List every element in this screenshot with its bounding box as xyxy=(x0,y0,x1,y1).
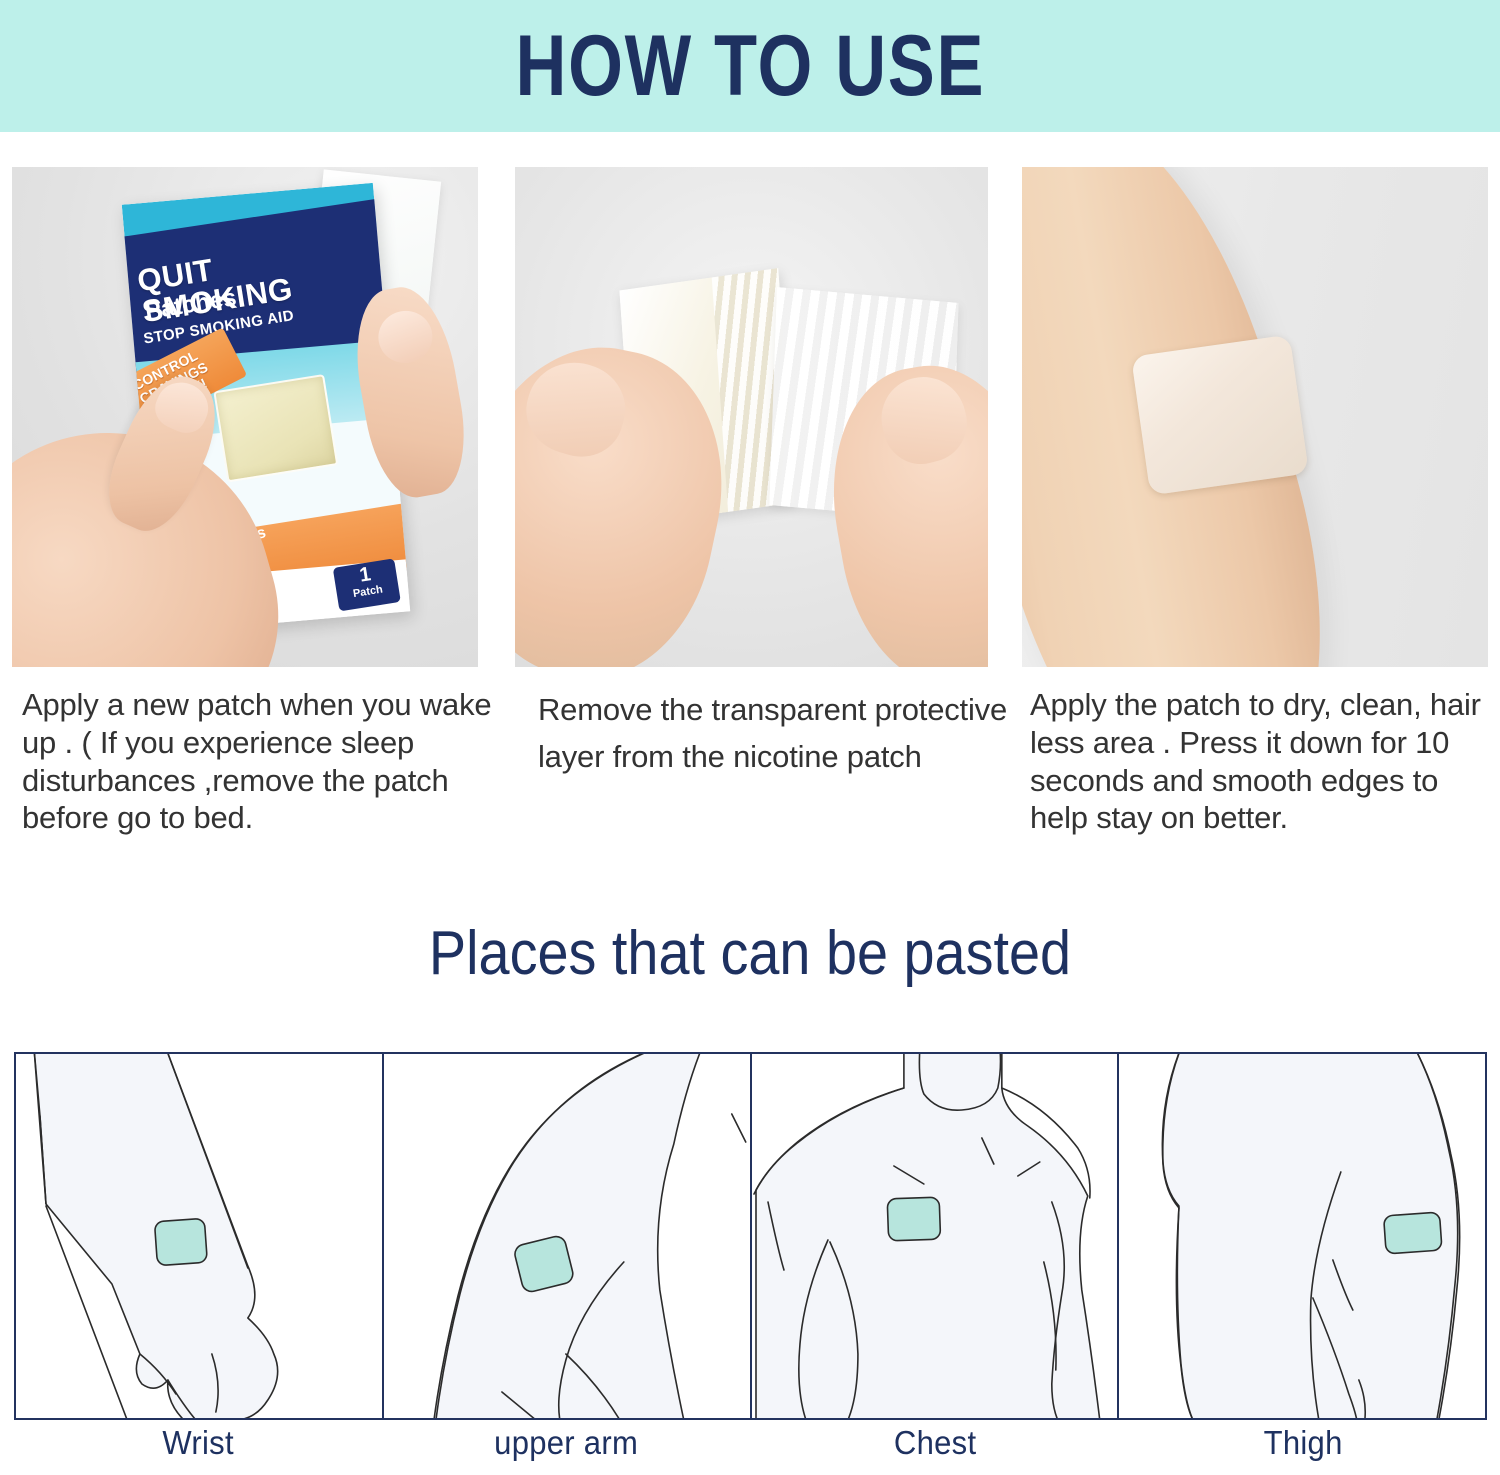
chest-diagram-icon xyxy=(752,1054,1118,1418)
label-thigh: Thigh xyxy=(1130,1424,1476,1472)
applied-patch xyxy=(1131,335,1309,496)
placement-diagram-grid xyxy=(14,1052,1487,1420)
step-caption-3: Apply the patch to dry, clean, hair less… xyxy=(1030,686,1500,837)
step-caption-1: Apply a new patch when you wake up . ( I… xyxy=(22,686,492,837)
label-wrist: Wrist xyxy=(25,1424,371,1472)
upper-arm-diagram-icon xyxy=(384,1054,750,1418)
diagram-cell-upper-arm xyxy=(384,1054,752,1418)
patch-marker xyxy=(154,1218,207,1265)
header-band: HOW TO USE xyxy=(0,0,1500,132)
sachet-patch-window xyxy=(213,374,338,482)
step-photo-2 xyxy=(515,167,988,667)
step-caption-2: Remove the transparent protective layer … xyxy=(538,686,1008,780)
patch-marker xyxy=(887,1197,940,1241)
step-photo-row: QUIT SMOKING Patches STOP SMOKING AID CO… xyxy=(0,167,1500,667)
placement-section-title: Places that can be pasted xyxy=(75,918,1425,989)
label-chest: Chest xyxy=(762,1424,1108,1472)
step-photo-1: QUIT SMOKING Patches STOP SMOKING AID CO… xyxy=(12,167,478,667)
diagram-cell-chest xyxy=(752,1054,1120,1418)
patch-marker xyxy=(1384,1212,1442,1254)
how-to-use-page: HOW TO USE QUIT SMOKING Patches STOP SMO… xyxy=(0,0,1500,1475)
step-photo-3 xyxy=(1022,167,1488,667)
diagram-cell-wrist xyxy=(16,1054,384,1418)
diagram-cell-thigh xyxy=(1119,1054,1485,1418)
thigh-diagram-icon xyxy=(1119,1054,1485,1418)
wrist-diagram-icon xyxy=(16,1054,382,1418)
page-title: HOW TO USE xyxy=(515,23,985,109)
placement-label-row: Wrist upper arm Chest Thigh xyxy=(14,1424,1487,1472)
label-upper-arm: upper arm xyxy=(393,1424,739,1472)
